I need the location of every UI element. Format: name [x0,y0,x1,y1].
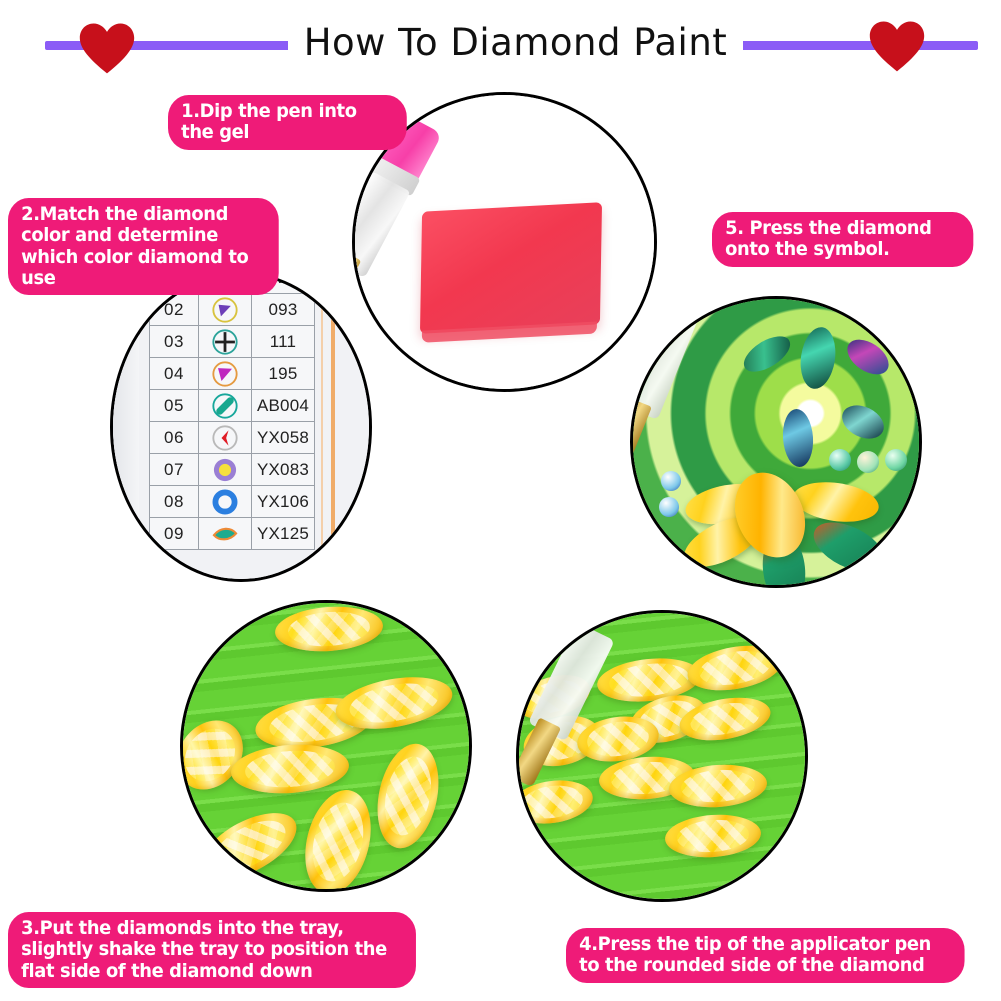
table-row: 05 AB004 [150,390,315,422]
table-row: 02 093 [150,294,315,326]
color-code: AB004 [252,390,315,422]
step-2-photo: 028 02 093 03 111 04 [110,272,372,582]
color-code-table: 028 02 093 03 111 04 [149,272,315,550]
step-4-photo [516,610,808,902]
round-gem [661,471,681,491]
yellow-dot-in-purple-ring-icon [199,454,252,486]
teal-leaf-orange-outline-icon [199,518,252,550]
step-5-label: 5. Press the diamond onto the symbol. [712,212,973,267]
step-3-label: 3.Put the diamonds into the tray, slight… [8,912,416,988]
header: How To Diamond Paint [0,0,1001,90]
triangle-magenta-in-orange-circle-icon [199,358,252,390]
code-number: 02 [150,294,199,326]
color-code: YX083 [252,454,315,486]
table-row: 09 YX125 [150,518,315,550]
pink-gel-square [420,202,602,334]
step-1-label: 1.Dip the pen into the gel [168,95,407,150]
step-4-label: 4.Press the tip of the applicator pen to… [566,928,965,983]
round-gem [857,451,879,473]
code-number: 07 [150,454,199,486]
color-code: 111 [252,326,315,358]
code-number: 03 [150,326,199,358]
round-gem [659,497,679,517]
page-title: How To Diamond Paint [288,18,743,68]
chart-orange-stripe-thin [321,275,323,579]
page-title-backdrop: How To Diamond Paint [288,18,743,68]
plus-in-teal-circle-icon [199,326,252,358]
step-5-photo [630,296,922,588]
infographic-canvas: How To Diamond Paint [0,0,1001,1001]
step-2-label: 2.Match the diamond color and determine … [8,198,279,295]
color-code: YX106 [252,486,315,518]
round-gem [829,449,851,471]
color-code: YX058 [252,422,315,454]
triangle-purple-in-yellow-circle-icon [199,294,252,326]
color-code: 195 [252,358,315,390]
table-row: 08 YX106 [150,486,315,518]
left-arrow-red-in-circle-icon [199,422,252,454]
round-gem [885,449,907,471]
heart-icon [78,20,136,76]
blue-ring-icon [199,486,252,518]
table-row: 04 195 [150,358,315,390]
code-number: 05 [150,390,199,422]
table-row: 03 111 [150,326,315,358]
table-row: 07 YX083 [150,454,315,486]
code-number: 06 [150,422,199,454]
code-number: 09 [150,518,199,550]
code-number: 08 [150,486,199,518]
code-number: 04 [150,358,199,390]
chart-orange-stripe [331,275,335,579]
step-3-photo [180,600,472,892]
table-row: 06 YX058 [150,422,315,454]
slash-in-teal-circle-icon [199,390,252,422]
heart-icon [868,18,926,74]
color-code: YX125 [252,518,315,550]
color-code: 093 [252,294,315,326]
